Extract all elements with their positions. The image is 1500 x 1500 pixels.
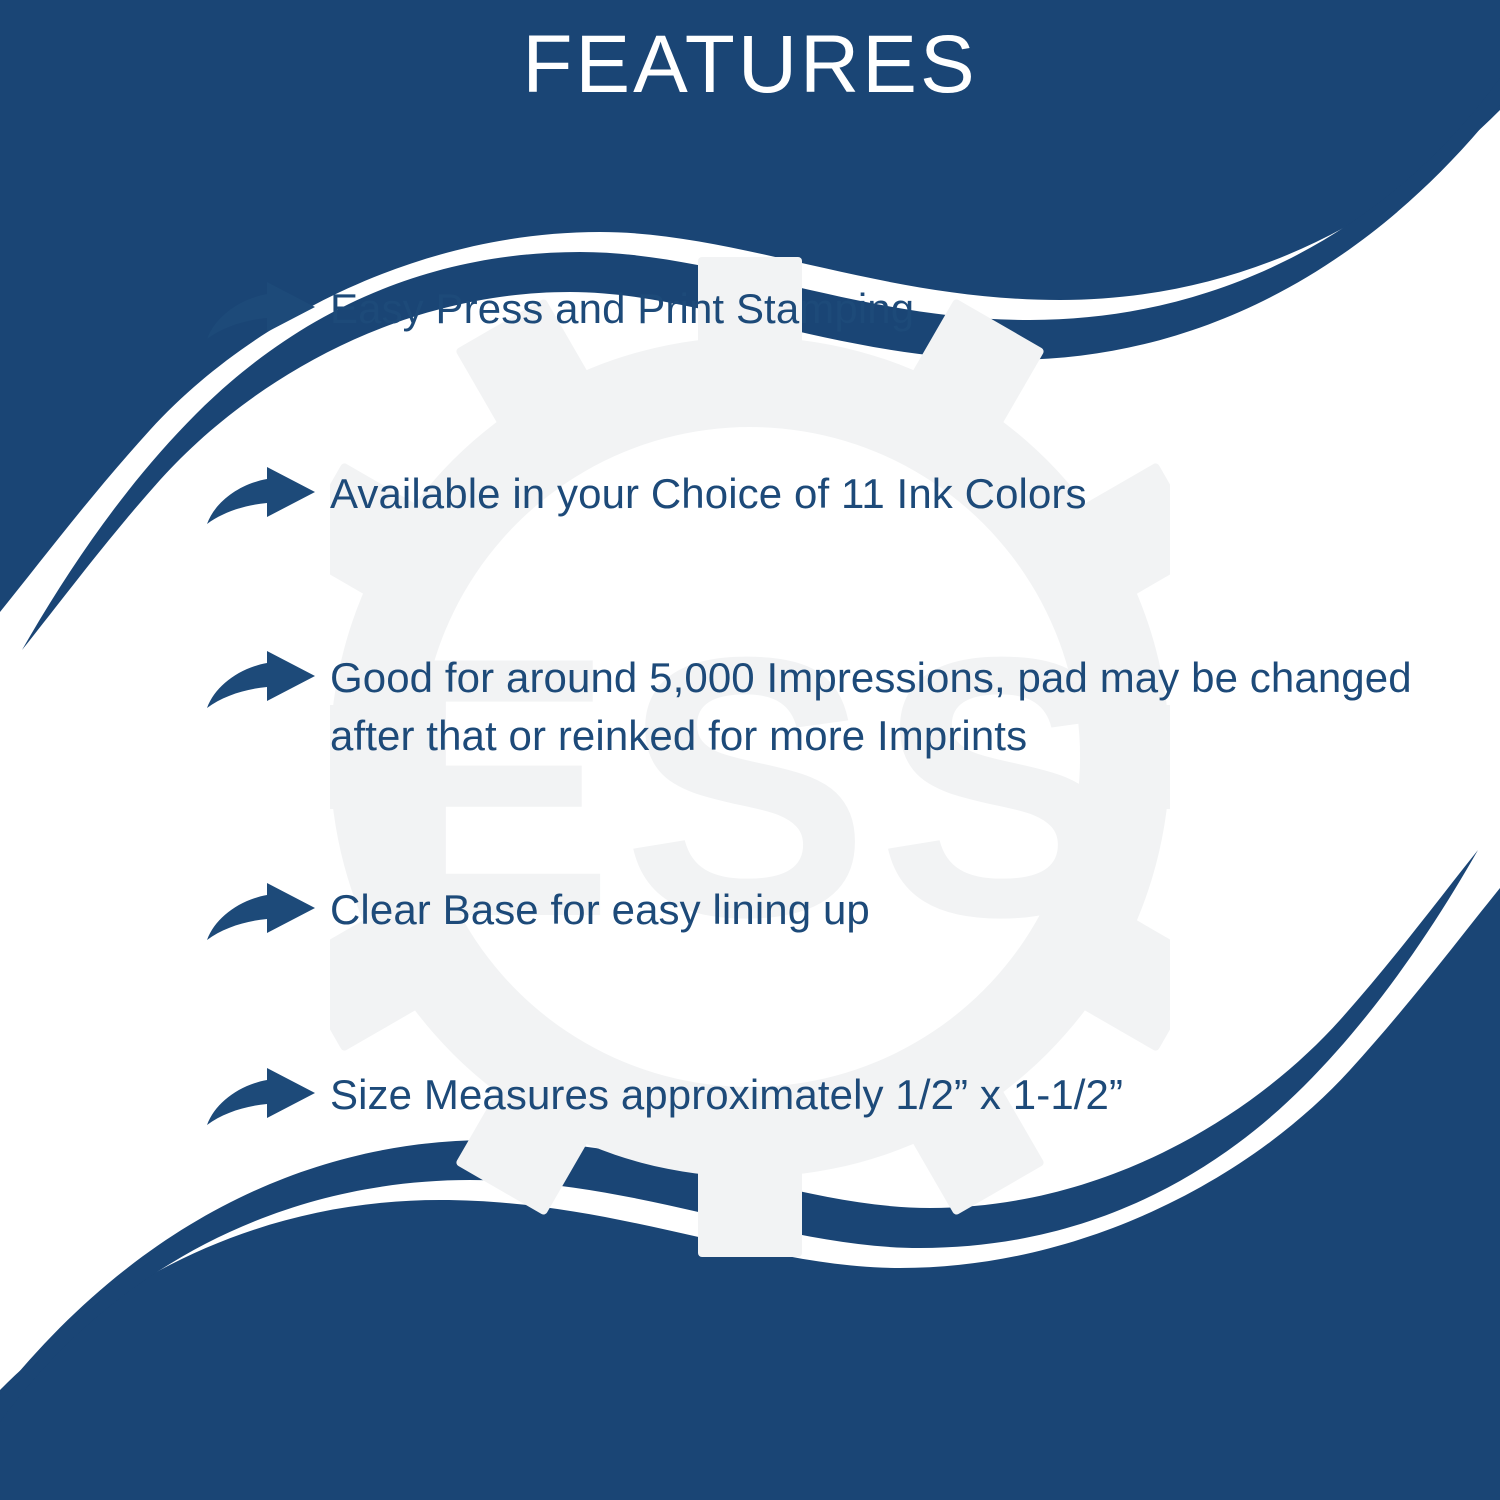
feature-label: Clear Base for easy lining up	[330, 877, 870, 939]
feature-item: Good for around 5,000 Impressions, pad m…	[0, 645, 1500, 765]
feature-list: Easy Press and Print Stamping Available …	[0, 276, 1500, 1134]
feature-item: Available in your Choice of 11 Ink Color…	[0, 461, 1500, 533]
feature-item: Easy Press and Print Stamping	[0, 276, 1500, 348]
curved-arrow-right-icon	[205, 1062, 330, 1134]
curved-arrow-right-icon	[205, 877, 330, 949]
features-infographic: ESS FEATURES Easy Press and Print Stampi…	[0, 0, 1500, 1500]
feature-item: Size Measures approximately 1/2” x 1-1/2…	[0, 1062, 1500, 1134]
page-title: FEATURES	[522, 24, 977, 106]
feature-item: Clear Base for easy lining up	[0, 877, 1500, 949]
feature-label: Easy Press and Print Stamping	[330, 276, 914, 338]
feature-label: Good for around 5,000 Impressions, pad m…	[330, 645, 1450, 765]
feature-label: Size Measures approximately 1/2” x 1-1/2…	[330, 1062, 1123, 1124]
curved-arrow-right-icon	[205, 645, 330, 717]
curved-arrow-right-icon	[205, 461, 330, 533]
curved-arrow-right-icon	[205, 276, 330, 348]
title-bar: FEATURES	[0, 0, 1500, 130]
feature-label: Available in your Choice of 11 Ink Color…	[330, 461, 1087, 523]
